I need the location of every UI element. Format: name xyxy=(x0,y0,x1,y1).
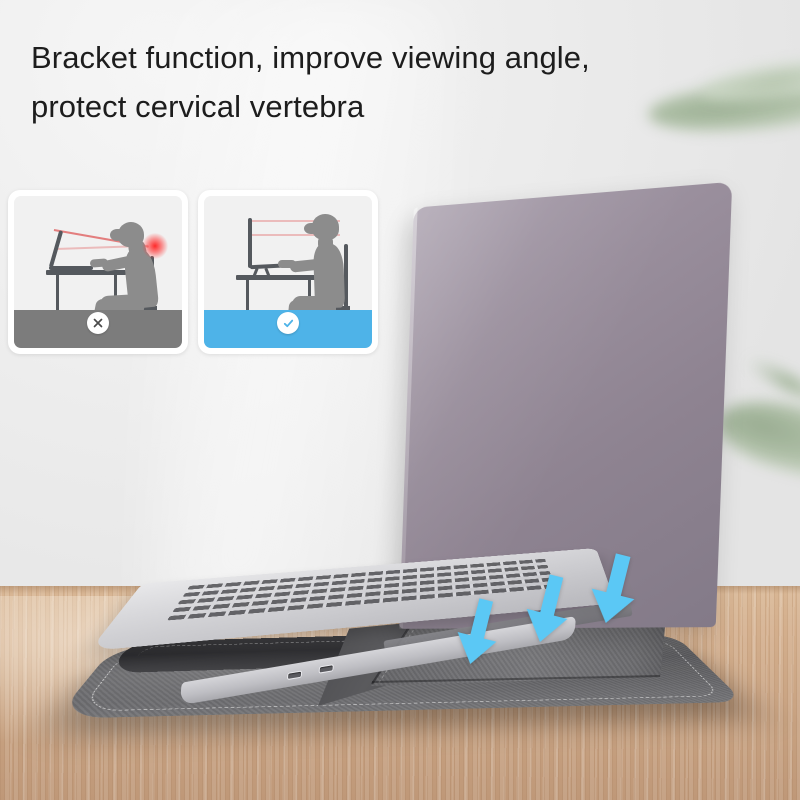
direction-arrow-1 xyxy=(455,597,501,669)
status-badge-incorrect xyxy=(87,312,109,334)
laptop-screen-good xyxy=(248,218,252,268)
person-hand xyxy=(90,258,109,267)
cross-icon xyxy=(92,317,104,329)
posture-comparison-group xyxy=(8,190,378,354)
headline-line-2: protect cervical vertebra xyxy=(31,83,651,132)
direction-arrow-3 xyxy=(589,552,639,628)
product-marketing-image: Bracket function, improve viewing angle,… xyxy=(0,0,800,800)
down-arrow-icon xyxy=(516,568,580,651)
card-bad-posture[interactable] xyxy=(8,190,188,354)
direction-arrow-2 xyxy=(524,573,572,647)
card-bad-posture-canvas xyxy=(14,196,182,348)
card-good-posture[interactable] xyxy=(198,190,378,354)
headline-line-1: Bracket function, improve viewing angle, xyxy=(31,40,590,75)
neck-pain-indicator-icon xyxy=(142,233,168,259)
person-face xyxy=(110,229,124,241)
desk-leg-left xyxy=(56,275,59,315)
down-arrow-icon xyxy=(447,593,509,674)
person-hand xyxy=(278,260,296,268)
usb-c-port-right xyxy=(319,664,334,674)
status-badge-correct xyxy=(277,312,299,334)
person-face xyxy=(304,223,318,234)
card-good-posture-canvas xyxy=(204,196,372,348)
check-icon xyxy=(282,317,295,330)
down-arrow-icon xyxy=(581,547,648,633)
page-title: Bracket function, improve viewing angle,… xyxy=(31,34,651,132)
usb-c-port-left xyxy=(287,670,302,680)
